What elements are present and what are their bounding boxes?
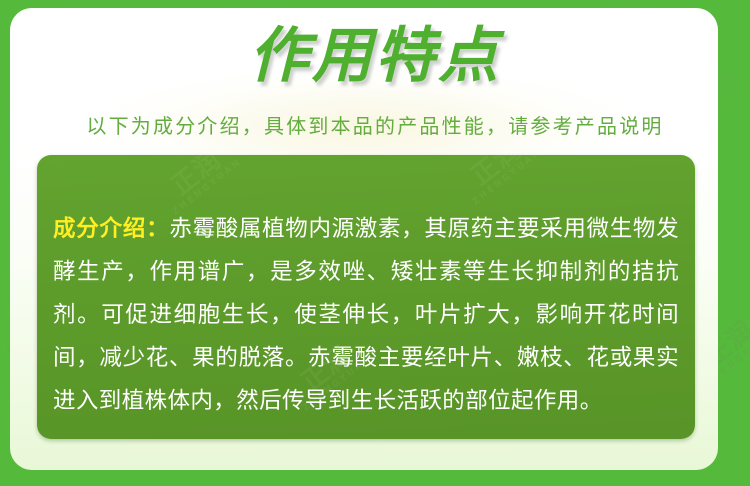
watermark-en: ZHENGYUAN (472, 155, 545, 208)
watermark-tile: 正润 ZHENGYUAN (455, 155, 545, 208)
page-title-wrap: 作用特点 (0, 24, 750, 89)
page-subtitle: 以下为成分介绍，具体到本品的产品性能，请参考产品说明 (86, 110, 663, 139)
ingredient-description-box: 正润 ZHENGYUAN 正润 ZHENGYUAN 正润 ZHENGYUAN 成… (37, 155, 695, 439)
watermark-cn: 正润 (155, 155, 239, 211)
watermark-cn: 正润 (455, 155, 539, 201)
promo-banner: 正润 ZHENGYUAN 正润 ZHENGYUAN 正润 ZHENGYUAN 正… (0, 0, 750, 486)
page-subtitle-wrap: 以下为成分介绍，具体到本品的产品性能，请参考产品说明 (0, 110, 750, 139)
ingredient-description-label: 成分介绍： (53, 216, 169, 242)
ingredient-description-text: 成分介绍：赤霉酸属植物内源激素，其原药主要采用微生物发酵生产，作用谱广，是多效唑… (53, 208, 679, 423)
page-title: 作用特点 (249, 24, 501, 89)
ingredient-description-body: 赤霉酸属植物内源激素，其原药主要采用微生物发酵生产，作用谱广，是多效唑、矮壮素等… (53, 216, 679, 414)
